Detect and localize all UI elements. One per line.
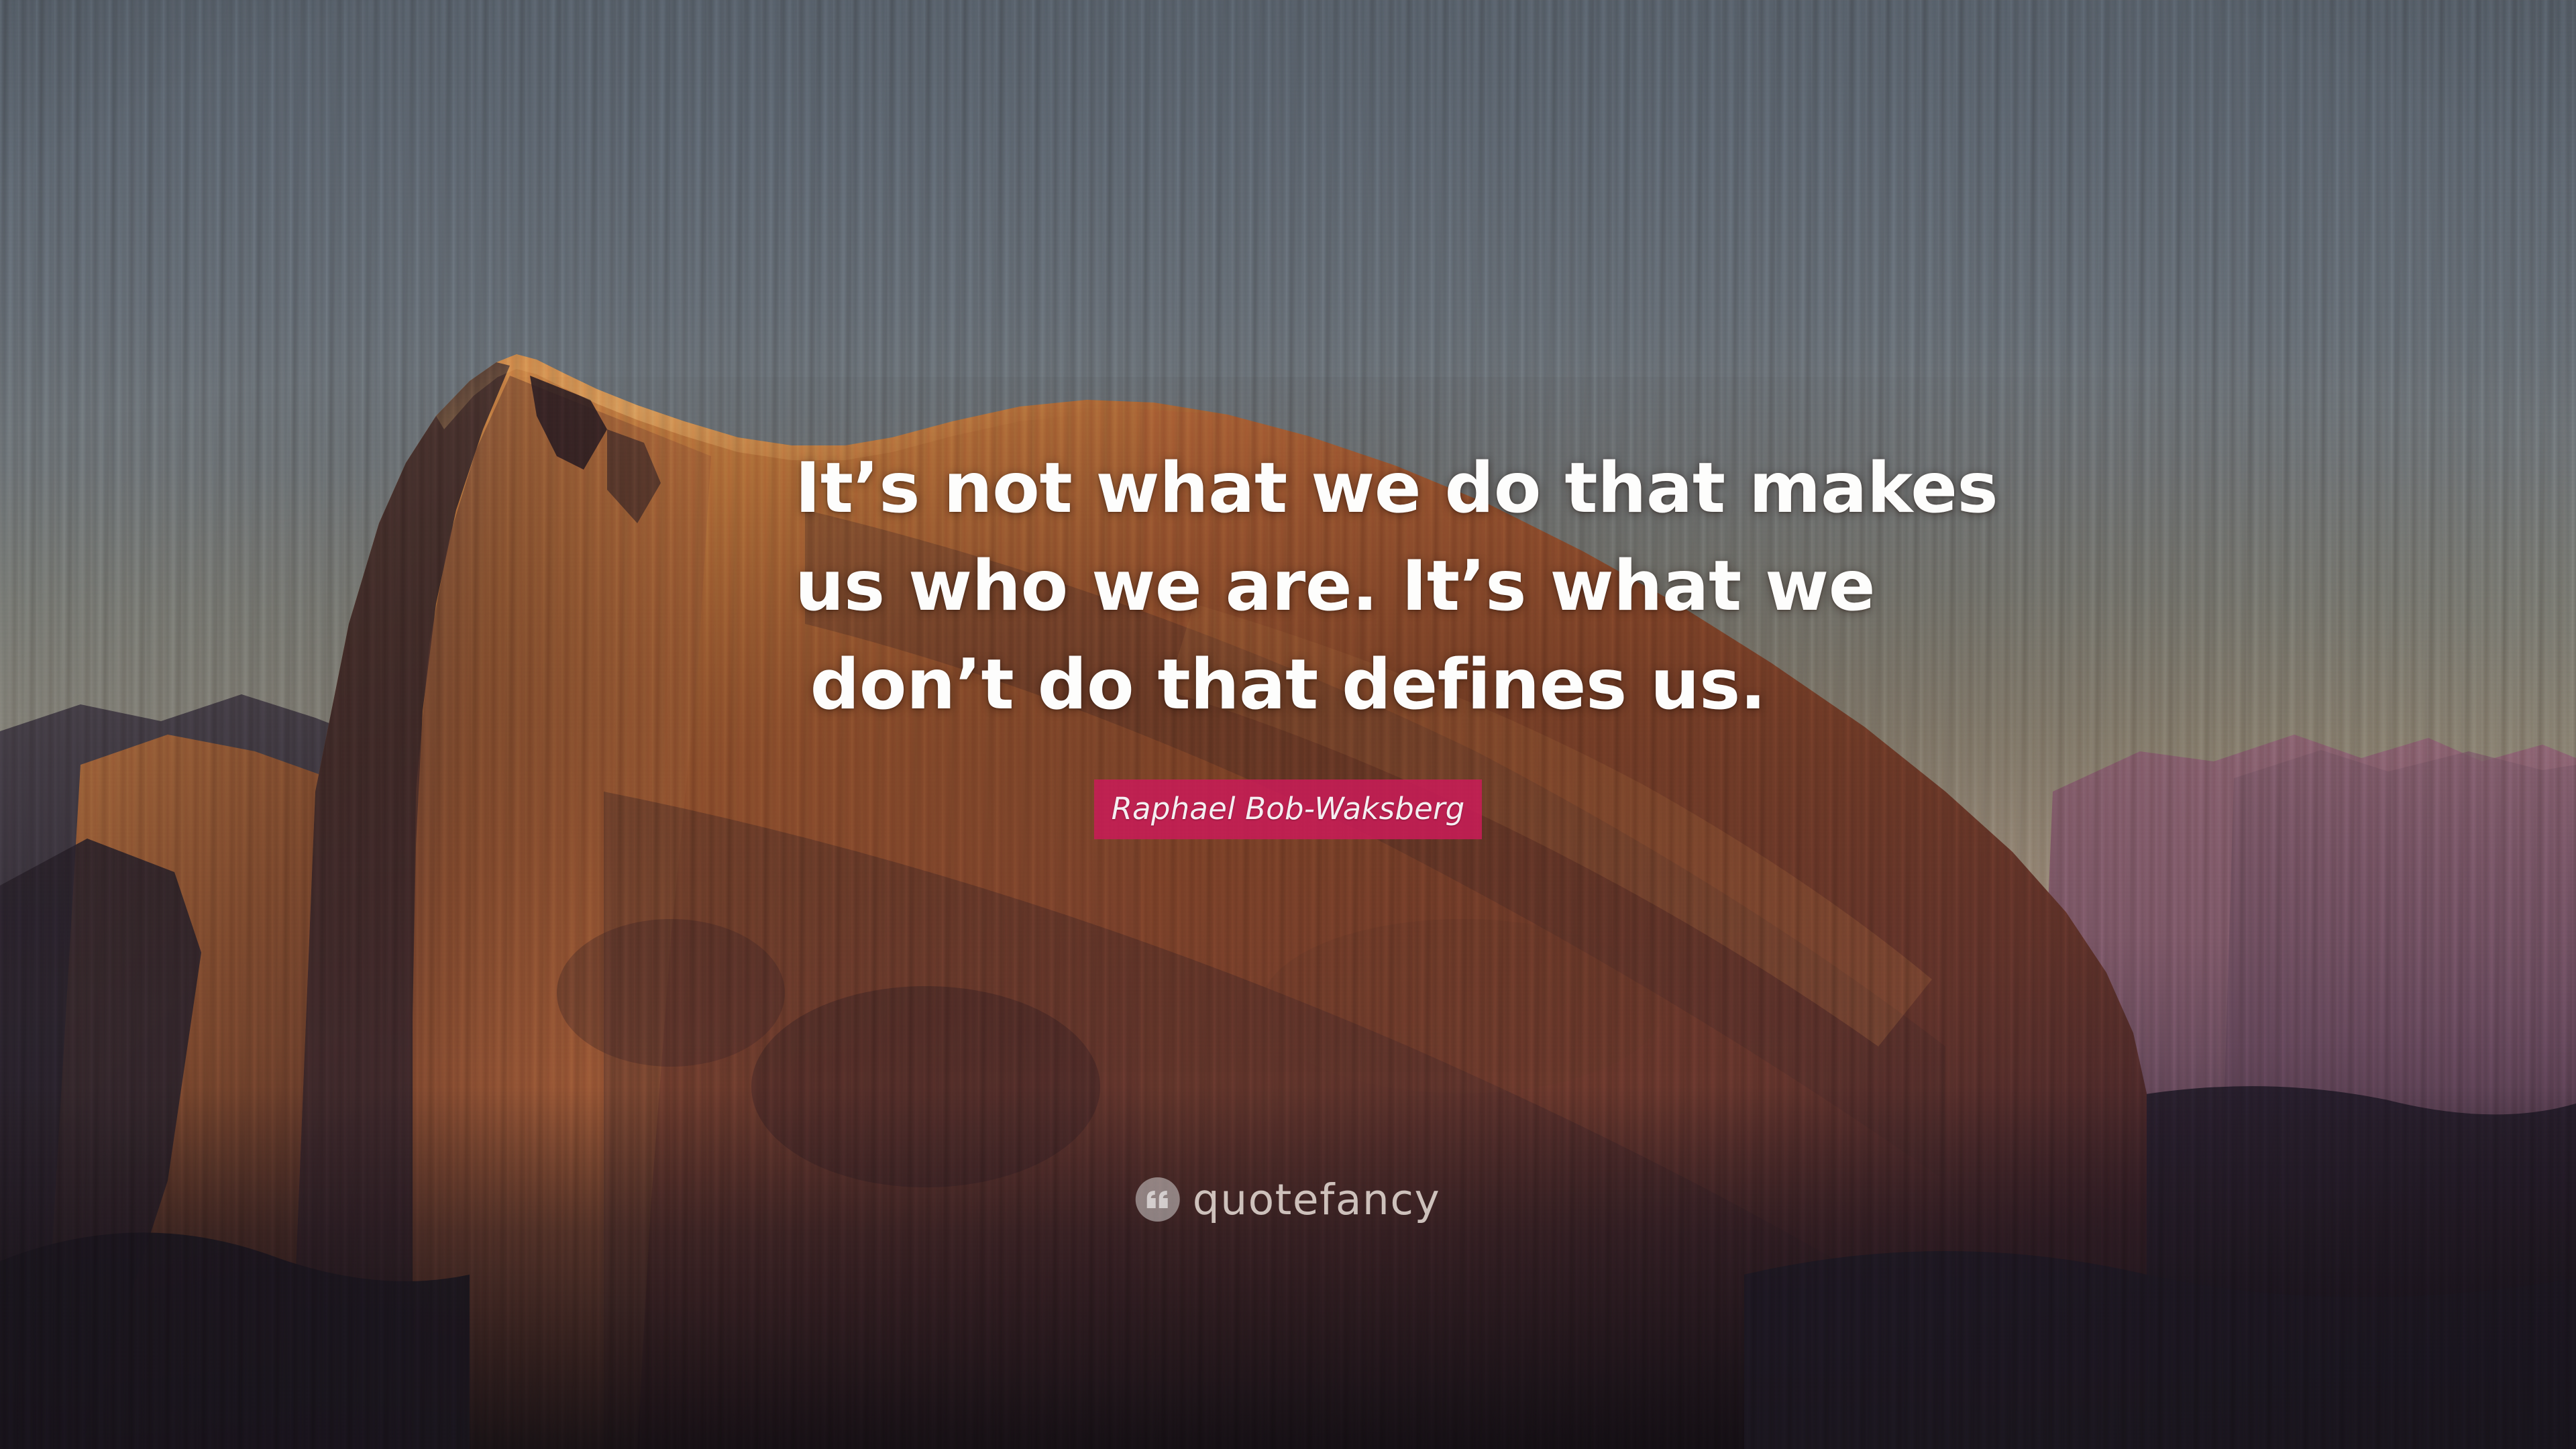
quote-line-1: It’s not what we do that makes <box>795 439 1781 537</box>
quotefancy-watermark[interactable]: quotefancy <box>1136 1177 1441 1222</box>
quote-mark-icon <box>1136 1177 1180 1222</box>
watermark-brand: quotefancy <box>1193 1179 1441 1221</box>
quote-text: It’s not what we do that makes us who we… <box>795 439 1781 734</box>
quote-content: It’s not what we do that makes us who we… <box>0 0 2576 1449</box>
author-badge[interactable]: Raphael Bob-Waksberg <box>1094 780 1483 839</box>
quote-line-2: us who we are. It’s what we <box>795 537 1781 635</box>
quote-line-3: don’t do that defines us. <box>795 636 1781 734</box>
attribution-row: Raphael Bob-Waksberg <box>1094 780 1483 839</box>
wallpaper-canvas: It’s not what we do that makes us who we… <box>0 0 2576 1449</box>
